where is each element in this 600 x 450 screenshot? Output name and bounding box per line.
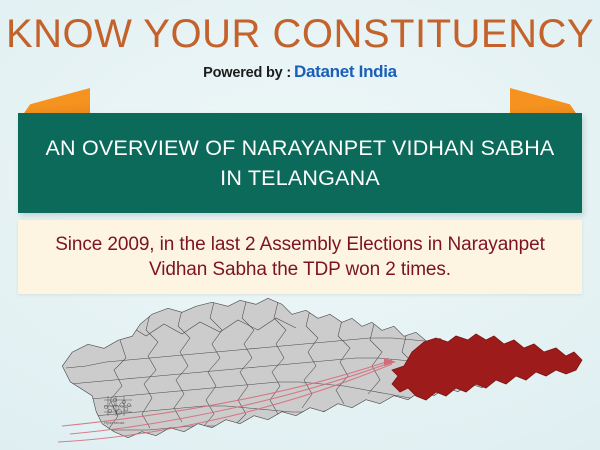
telangana-map-svg bbox=[0, 296, 600, 450]
map-illustration: Hyderabad bbox=[0, 296, 600, 450]
ribbon-body: AN OVERVIEW OF NARAYANPET VIDHAN SABHA I… bbox=[18, 113, 582, 213]
ribbon-banner: AN OVERVIEW OF NARAYANPET VIDHAN SABHA I… bbox=[0, 88, 600, 216]
powered-by-label: Powered by : bbox=[203, 65, 291, 81]
city-label: Hyderabad bbox=[104, 420, 124, 425]
banner-title: AN OVERVIEW OF NARAYANPET VIDHAN SABHA I… bbox=[18, 133, 582, 193]
summary-card: Since 2009, in the last 2 Assembly Elect… bbox=[18, 220, 582, 294]
ribbon-tail-left-icon bbox=[22, 88, 90, 116]
powered-by-row: Powered by :Datanet India bbox=[0, 63, 600, 82]
page-header: KNOW YOUR CONSTITUENCY Powered by :Datan… bbox=[0, 0, 600, 82]
ribbon-tail-right-icon bbox=[510, 88, 578, 116]
page-title: KNOW YOUR CONSTITUENCY bbox=[0, 12, 600, 56]
brand-name: Datanet India bbox=[294, 62, 397, 81]
summary-text: Since 2009, in the last 2 Assembly Elect… bbox=[18, 232, 582, 282]
